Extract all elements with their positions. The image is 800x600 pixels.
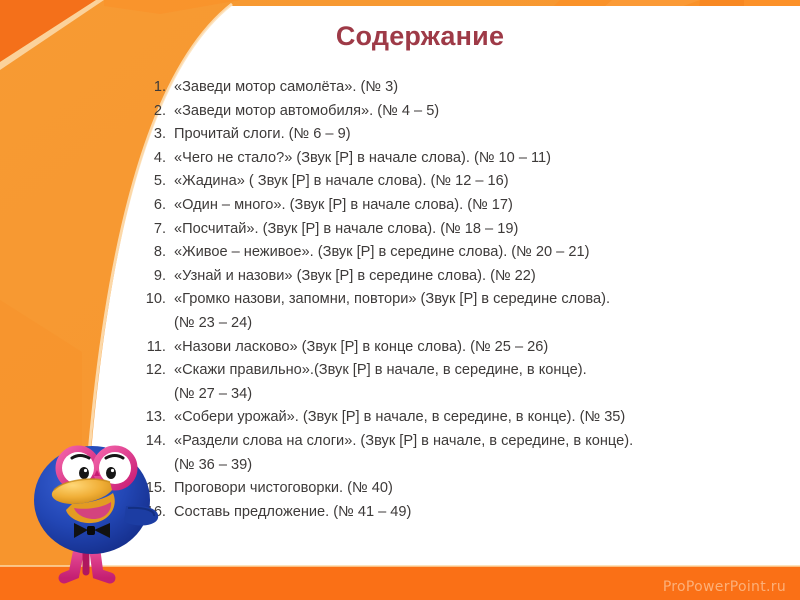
facet-right-b [744, 0, 800, 60]
facet-top-b [548, 0, 700, 18]
page-title: Содержание [120, 22, 720, 52]
list-item[interactable]: 16. Составь предложение. (№ 41 – 49) [136, 501, 764, 525]
list-item[interactable]: 2. «Заведи мотор автомобиля». (№ 4 – 5) [136, 100, 764, 124]
facet-top-a [104, 0, 240, 14]
list-item-label: «Раздели слова на слоги». (Звук [Р] в на… [174, 430, 764, 477]
list-item[interactable]: 14. «Раздели слова на слоги». (Звук [Р] … [136, 430, 764, 477]
list-item-number: 10. [136, 288, 174, 312]
watermark-propowerpoint: ProPowerPoint.ru [663, 579, 786, 595]
list-item[interactable]: 13. «Собери урожай». (Звук [Р] в начале,… [136, 406, 764, 430]
list-item-number: 3. [136, 123, 174, 147]
list-item-label: Прочитай слоги. (№ 6 – 9) [174, 123, 764, 147]
list-item[interactable]: 9. «Узнай и назови» (Звук [Р] в середине… [136, 265, 764, 289]
list-item-label: «Посчитай». (Звук [Р] в начале слова). (… [174, 218, 764, 242]
list-item-label: «Узнай и назови» (Звук [Р] в середине сл… [174, 265, 764, 289]
list-item-number: 5. [136, 170, 174, 194]
list-item-number: 1. [136, 76, 174, 100]
list-item-label: «Один – много». (Звук [Р] в начале слова… [174, 194, 764, 218]
list-item[interactable]: 10. «Громко назови, запомни, повтори» (З… [136, 288, 764, 335]
list-item-label: «Заведи мотор автомобиля». (№ 4 – 5) [174, 100, 764, 124]
slide-canvas: Содержание 1. «Заведи мотор самолёта». (… [0, 0, 800, 600]
list-item-label: «Громко назови, запомни, повтори» (Звук … [174, 288, 764, 335]
list-item-number: 11. [136, 336, 174, 360]
list-item-number: 7. [136, 218, 174, 242]
list-item[interactable]: 11. «Назови ласково» (Звук [Р] в конце с… [136, 336, 764, 360]
facet-seam-top-left [0, 0, 104, 70]
list-item[interactable]: 4. «Чего не стало?» (Звук [Р] в начале с… [136, 147, 764, 171]
list-item-label: «Назови ласково» (Звук [Р] в конце слова… [174, 336, 764, 360]
list-item-label: Составь предложение. (№ 41 – 49) [174, 501, 764, 525]
list-item[interactable]: 1. «Заведи мотор самолёта». (№ 3) [136, 76, 764, 100]
list-item-number: 8. [136, 241, 174, 265]
list-item[interactable]: 3. Прочитай слоги. (№ 6 – 9) [136, 123, 764, 147]
list-item[interactable]: 15. Проговори чистоговорки. (№ 40) [136, 477, 764, 501]
facet-top-left-dark [0, 0, 96, 62]
list-item-label: «Жадина» ( Звук [Р] в начале слова). (№ … [174, 170, 764, 194]
list-item[interactable]: 7. «Посчитай». (Звук [Р] в начале слова)… [136, 218, 764, 242]
list-item[interactable]: 6. «Один – много». (Звук [Р] в начале сл… [136, 194, 764, 218]
list-item-number: 2. [136, 100, 174, 124]
list-item[interactable]: 5. «Жадина» ( Звук [Р] в начале слова). … [136, 170, 764, 194]
list-item-label: «Скажи правильно».(Звук [Р] в начале, в … [174, 359, 764, 406]
table-of-contents: 1. «Заведи мотор самолёта». (№ 3) 2. «За… [136, 76, 764, 524]
list-item-label: Проговори чистоговорки. (№ 40) [174, 477, 764, 501]
list-item-label: «Собери урожай». (Звук [Р] в начале, в с… [174, 406, 764, 430]
list-item-number: 12. [136, 359, 174, 383]
list-item-label: «Заведи мотор самолёта». (№ 3) [174, 76, 764, 100]
list-item-number: 9. [136, 265, 174, 289]
list-item[interactable]: 8. «Живое – неживое». (Звук [Р] в середи… [136, 241, 764, 265]
cartoon-bird-character [14, 424, 184, 590]
list-item-number: 6. [136, 194, 174, 218]
list-item-number: 4. [136, 147, 174, 171]
list-item-label: «Чего не стало?» (Звук [Р] в начале слов… [174, 147, 764, 171]
list-item-label: «Живое – неживое». (Звук [Р] в середине … [174, 241, 764, 265]
facet-top-d [596, 0, 700, 22]
list-item[interactable]: 12. «Скажи правильно».(Звук [Р] в начале… [136, 359, 764, 406]
